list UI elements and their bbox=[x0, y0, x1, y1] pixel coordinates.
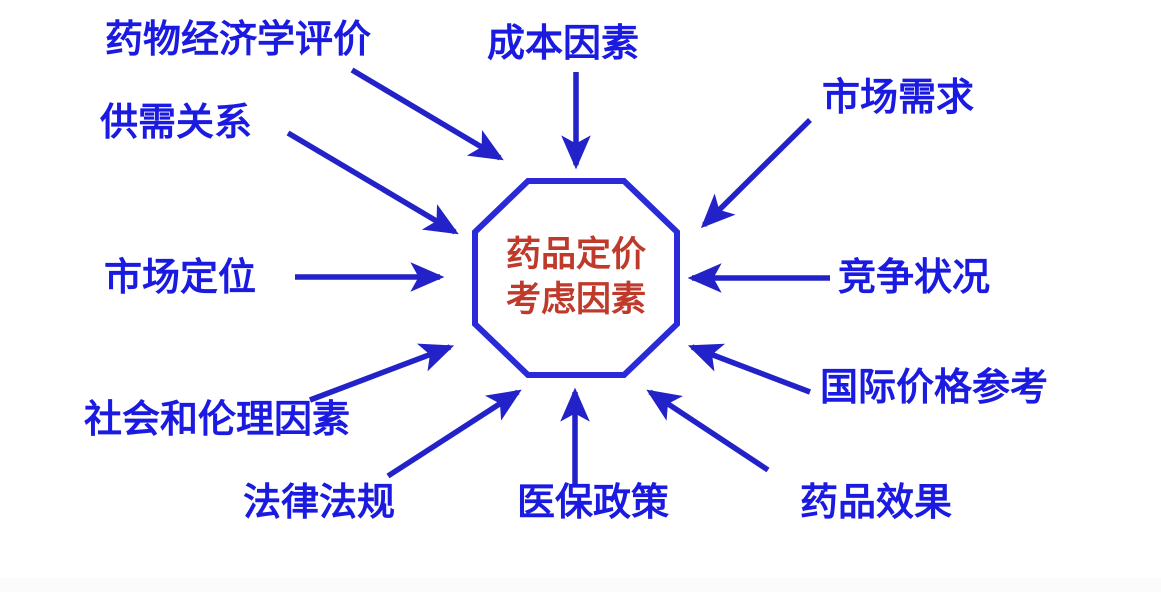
arrow-laws-and-regulations bbox=[388, 392, 518, 476]
bottom-edge-strip bbox=[0, 578, 1161, 592]
label-market-positioning[interactable]: 市场定位 bbox=[104, 258, 256, 298]
label-laws-and-regulations[interactable]: 法律法规 bbox=[243, 483, 395, 523]
label-pharmacoeconomic-evaluation[interactable]: 药物经济学评价 bbox=[105, 20, 371, 60]
arrow-international-price-reference bbox=[692, 347, 810, 392]
label-market-demand[interactable]: 市场需求 bbox=[822, 78, 974, 118]
label-drug-efficacy[interactable]: 药品效果 bbox=[800, 483, 952, 523]
arrow-supply-demand-relation bbox=[288, 133, 455, 232]
label-social-ethical-factors[interactable]: 社会和伦理因素 bbox=[84, 400, 350, 440]
center-node[interactable]: 药品定价 考虑因素 bbox=[474, 180, 678, 376]
center-title-line-2: 考虑因素 bbox=[506, 278, 646, 323]
label-international-price-reference[interactable]: 国际价格参考 bbox=[820, 368, 1048, 408]
arrow-market-demand bbox=[704, 120, 810, 225]
label-competition-status[interactable]: 竞争状况 bbox=[838, 258, 990, 298]
label-cost-factor[interactable]: 成本因素 bbox=[487, 24, 639, 64]
label-supply-demand-relation[interactable]: 供需关系 bbox=[100, 103, 252, 143]
arrow-pharmacoeconomic-evaluation bbox=[352, 70, 500, 158]
label-medical-insurance-policy[interactable]: 医保政策 bbox=[517, 483, 669, 523]
arrow-social-ethical-factors bbox=[310, 347, 450, 400]
arrow-drug-efficacy bbox=[650, 392, 768, 470]
diagram-canvas: 药物经济学评价 成本因素 市场需求 供需关系 市场定位 竞争状况 社会和伦理因素… bbox=[0, 0, 1161, 592]
center-title-line-1: 药品定价 bbox=[506, 233, 646, 278]
